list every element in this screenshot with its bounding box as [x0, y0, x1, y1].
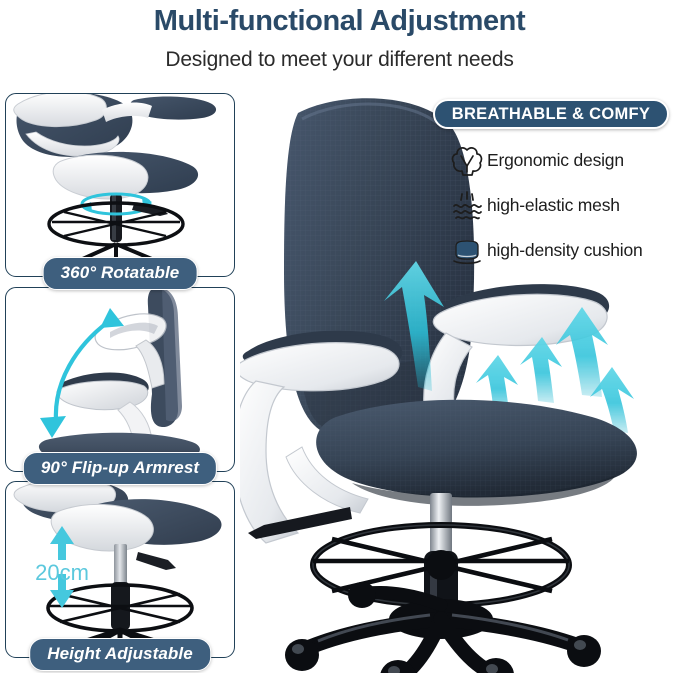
feature-label: Ergonomic design — [487, 150, 624, 171]
chair-seat — [286, 400, 637, 513]
chair-armrest-illustration — [6, 288, 234, 471]
page-title: Multi-functional Adjustment — [0, 0, 679, 36]
feature-item-ergonomic: Ergonomic design — [447, 138, 679, 183]
chair-rotating-illustration — [6, 94, 234, 276]
feature-label: high-density cushion — [487, 240, 643, 261]
feature-panel-rotatable: 360° Rotatable — [5, 93, 235, 277]
height-value: 20cm — [35, 560, 89, 585]
panel-illustration-height: 20cm — [6, 482, 234, 657]
feature-label: high-elastic mesh — [487, 195, 620, 216]
chair-height-illustration: 20cm — [6, 482, 234, 657]
cushion-icon — [447, 234, 487, 268]
page-subtitle: Designed to meet your different needs — [0, 36, 679, 72]
infographic-page: Multi-functional Adjustment Designed to … — [0, 0, 679, 673]
breathable-comfy-badge: BREATHABLE & COMFY — [433, 99, 669, 129]
feature-panel-armrest: 90° Flip-up Armrest — [5, 287, 235, 472]
feature-panel-height: 20cm Height Adjustable — [5, 481, 235, 658]
header: Multi-functional Adjustment Designed to … — [0, 0, 679, 90]
feature-item-mesh: high-elastic mesh — [447, 183, 679, 228]
feature-item-cushion: high-density cushion — [447, 228, 679, 273]
panel-illustration-rotatable — [6, 94, 234, 276]
mesh-wave-icon — [447, 189, 487, 223]
feature-list: Ergonomic design high-elastic — [447, 138, 679, 273]
panel-illustration-armrest — [6, 288, 234, 471]
panel-label-height: Height Adjustable — [29, 638, 211, 671]
panel-label-armrest: 90° Flip-up Armrest — [23, 452, 217, 485]
panel-label-rotatable: 360° Rotatable — [43, 257, 198, 290]
cotton-icon — [447, 144, 487, 178]
